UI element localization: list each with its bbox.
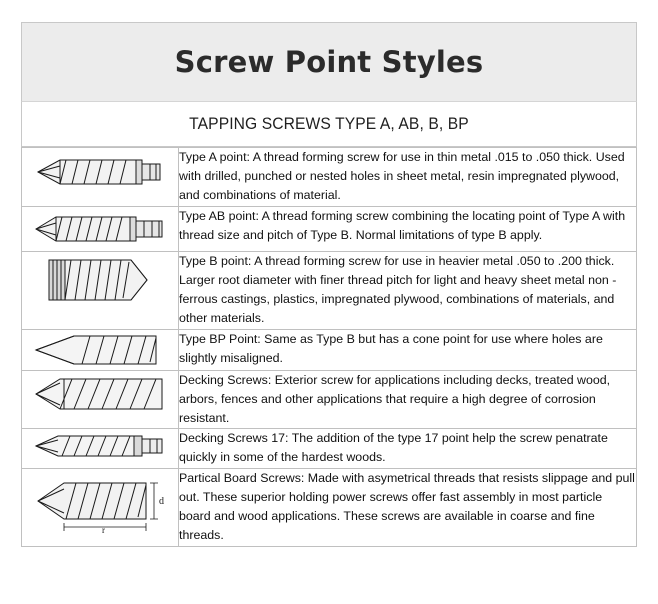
screw-image-cell: d r [22,468,179,546]
screw-type-b-icon [22,252,178,308]
screw-image-cell [22,370,179,429]
screw-description: Decking Screws 17: The addition of the t… [179,429,637,468]
svg-text:d: d [159,496,164,507]
screw-type-bp-icon [22,330,178,370]
table-row: Type A point: A thread forming screw for… [22,148,637,207]
table-row: Type AB point: A thread forming screw co… [22,206,637,251]
screw-point-styles-document: Screw Point Styles TAPPING SCREWS TYPE A… [0,0,658,604]
table-row: Decking Screws: Exterior screw for appli… [22,370,637,429]
screw-description: Type A point: A thread forming screw for… [179,148,637,207]
screw-description: Type BP Point: Same as Type B but has a … [179,329,637,370]
screw-decking-17-icon [22,429,178,463]
screw-decking-icon [22,371,178,417]
document-subtitle-bar: TAPPING SCREWS TYPE A, AB, B, BP [21,101,637,147]
screw-image-cell [22,329,179,370]
screw-image-cell [22,148,179,207]
screw-image-cell [22,206,179,251]
screw-description: Decking Screws: Exterior screw for appli… [179,370,637,429]
page-subtitle: TAPPING SCREWS TYPE A, AB, B, BP [189,114,469,134]
screw-description: Type AB point: A thread forming screw co… [179,206,637,251]
screw-image-cell [22,251,179,329]
table-row: Type BP Point: Same as Type B but has a … [22,329,637,370]
document-header: Screw Point Styles [21,22,637,101]
table-row: Type B point: A thread forming screw for… [22,251,637,329]
table-row: d r Partical Board Screws: Made with asy… [22,468,637,546]
screw-styles-table: Type A point: A thread forming screw for… [21,147,637,547]
page-title: Screw Point Styles [175,45,484,79]
table-row: Decking Screws 17: The addition of the t… [22,429,637,468]
screw-particle-board-icon: d r [22,469,178,533]
document-content: Screw Point Styles TAPPING SCREWS TYPE A… [21,22,637,547]
screw-description: Partical Board Screws: Made with asymetr… [179,468,637,546]
screw-image-cell [22,429,179,468]
svg-text:r: r [102,525,105,533]
screw-description: Type B point: A thread forming screw for… [179,251,637,329]
screw-type-a-icon [22,148,178,196]
screw-type-ab-icon [22,207,178,251]
